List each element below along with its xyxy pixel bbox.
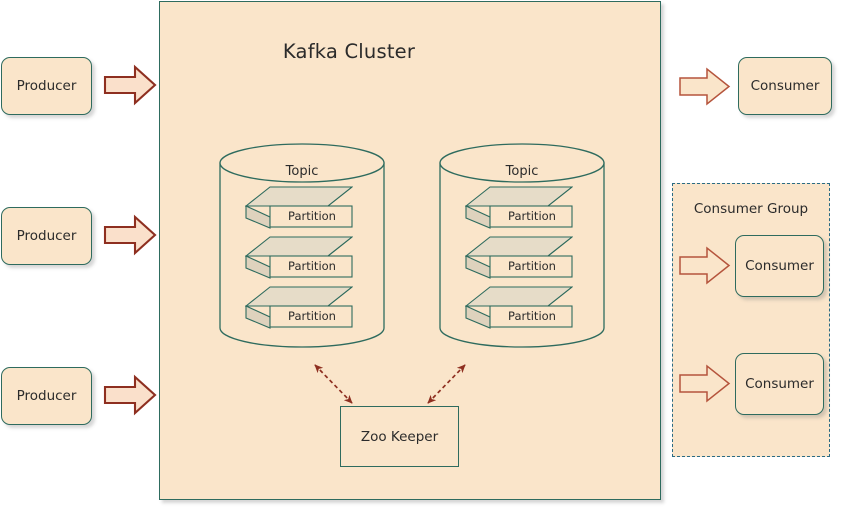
- cluster-to-group-consumer-2-arrow: [679, 365, 731, 403]
- producer-node-1[interactable]: Producer: [1, 57, 92, 115]
- topic-2-partition-1[interactable]: Partition: [465, 185, 573, 229]
- producer-node-2-label: Producer: [17, 228, 77, 244]
- consumer-group-panel: [672, 183, 830, 457]
- topic-1-partition-1[interactable]: Partition: [245, 185, 353, 229]
- topic-2-partition-2[interactable]: Partition: [465, 235, 573, 279]
- group-consumer-node-2-label: Consumer: [745, 376, 814, 392]
- consumer-group-title: Consumer Group: [672, 201, 830, 217]
- topic-1-partition-3-shape: [245, 285, 353, 329]
- cluster-to-consumer-arrow: [679, 68, 731, 106]
- topic-1-partition-2-shape: [245, 235, 353, 279]
- producer-node-1-label: Producer: [17, 78, 77, 94]
- topic-cylinder-1[interactable]: Topic Partition Partition: [219, 143, 385, 348]
- producer-node-3[interactable]: Producer: [1, 367, 92, 425]
- topic-2-partition-2-shape: [465, 235, 573, 279]
- cluster-to-group-consumer-1-arrow: [679, 247, 731, 285]
- topic-2-partition-1-shape: [465, 185, 573, 229]
- producer-2-to-cluster-arrow: [103, 214, 157, 258]
- topic-1-partition-3[interactable]: Partition: [245, 285, 353, 329]
- zookeeper-topic-2-connector: [428, 365, 465, 403]
- zookeeper-connectors: [300, 355, 480, 410]
- producer-1-to-cluster-arrow: [103, 64, 157, 108]
- group-consumer-node-1[interactable]: Consumer: [735, 235, 824, 297]
- zookeeper-node[interactable]: Zoo Keeper: [340, 406, 459, 467]
- kafka-cluster-title: Kafka Cluster: [159, 40, 539, 63]
- topic-1-partition-1-shape: [245, 185, 353, 229]
- topic-2-partition-3[interactable]: Partition: [465, 285, 573, 329]
- producer-3-to-cluster-arrow: [103, 374, 157, 418]
- kafka-architecture-diagram: Kafka Cluster Producer Producer Producer…: [0, 0, 842, 512]
- producer-node-3-label: Producer: [17, 388, 77, 404]
- group-consumer-node-2[interactable]: Consumer: [735, 353, 824, 415]
- standalone-consumer-label: Consumer: [751, 78, 820, 94]
- group-consumer-node-1-label: Consumer: [745, 258, 814, 274]
- standalone-consumer-node[interactable]: Consumer: [738, 57, 832, 115]
- topic-cylinder-2[interactable]: Topic Partition Partition: [439, 143, 605, 348]
- zookeeper-label: Zoo Keeper: [361, 429, 438, 445]
- topic-2-partition-3-shape: [465, 285, 573, 329]
- topic-1-partition-2[interactable]: Partition: [245, 235, 353, 279]
- zookeeper-topic-1-connector: [315, 365, 352, 403]
- producer-node-2[interactable]: Producer: [1, 207, 92, 265]
